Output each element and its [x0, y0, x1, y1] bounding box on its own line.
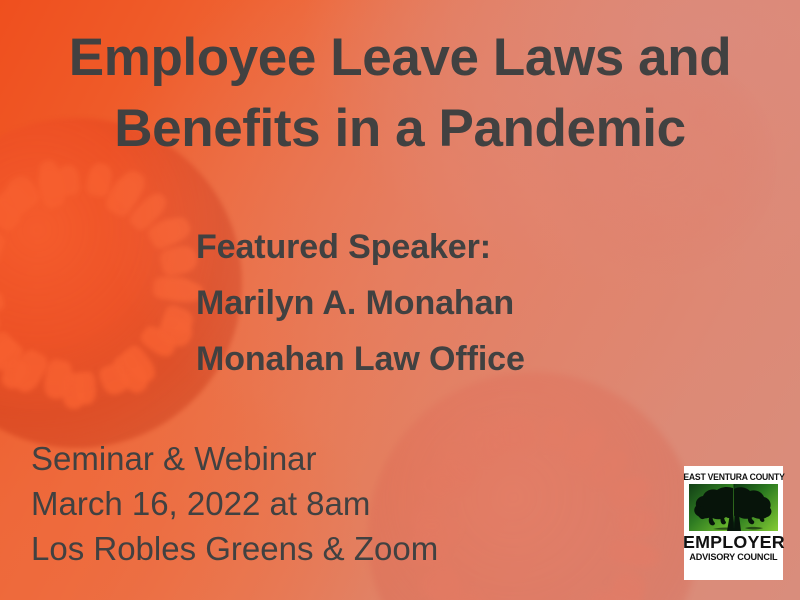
event-location: Los Robles Greens & Zoom: [31, 526, 438, 571]
slide-title: Employee Leave Laws and Benefits in a Pa…: [0, 22, 800, 164]
event-datetime: March 16, 2022 at 8am: [31, 481, 438, 526]
oak-tree-icon: [689, 484, 778, 531]
event-format: Seminar & Webinar: [31, 436, 438, 481]
presentation-slide: Employee Leave Laws and Benefits in a Pa…: [0, 0, 800, 600]
oak-tree-silhouette-icon: [689, 484, 778, 531]
slide-title-line-1: Employee Leave Laws and: [0, 22, 800, 93]
event-details-block: Seminar & Webinar March 16, 2022 at 8am …: [31, 436, 438, 571]
featured-speaker-name: Marilyn A. Monahan: [196, 275, 525, 331]
logo-main-text: EMPLOYER: [683, 533, 785, 552]
featured-speaker-organization: Monahan Law Office: [196, 331, 525, 387]
slide-content: Employee Leave Laws and Benefits in a Pa…: [0, 0, 800, 600]
slide-title-line-2: Benefits in a Pandemic: [0, 93, 800, 164]
logo-top-text: EAST VENTURA COUNTY: [683, 471, 784, 483]
logo-bottom-text: ADVISORY COUNCIL: [689, 552, 777, 564]
employer-advisory-council-logo: EAST VENTURA COUNTY: [684, 466, 783, 580]
featured-speaker-block: Featured Speaker: Marilyn A. Monahan Mon…: [196, 219, 525, 387]
featured-speaker-label: Featured Speaker:: [196, 219, 525, 275]
